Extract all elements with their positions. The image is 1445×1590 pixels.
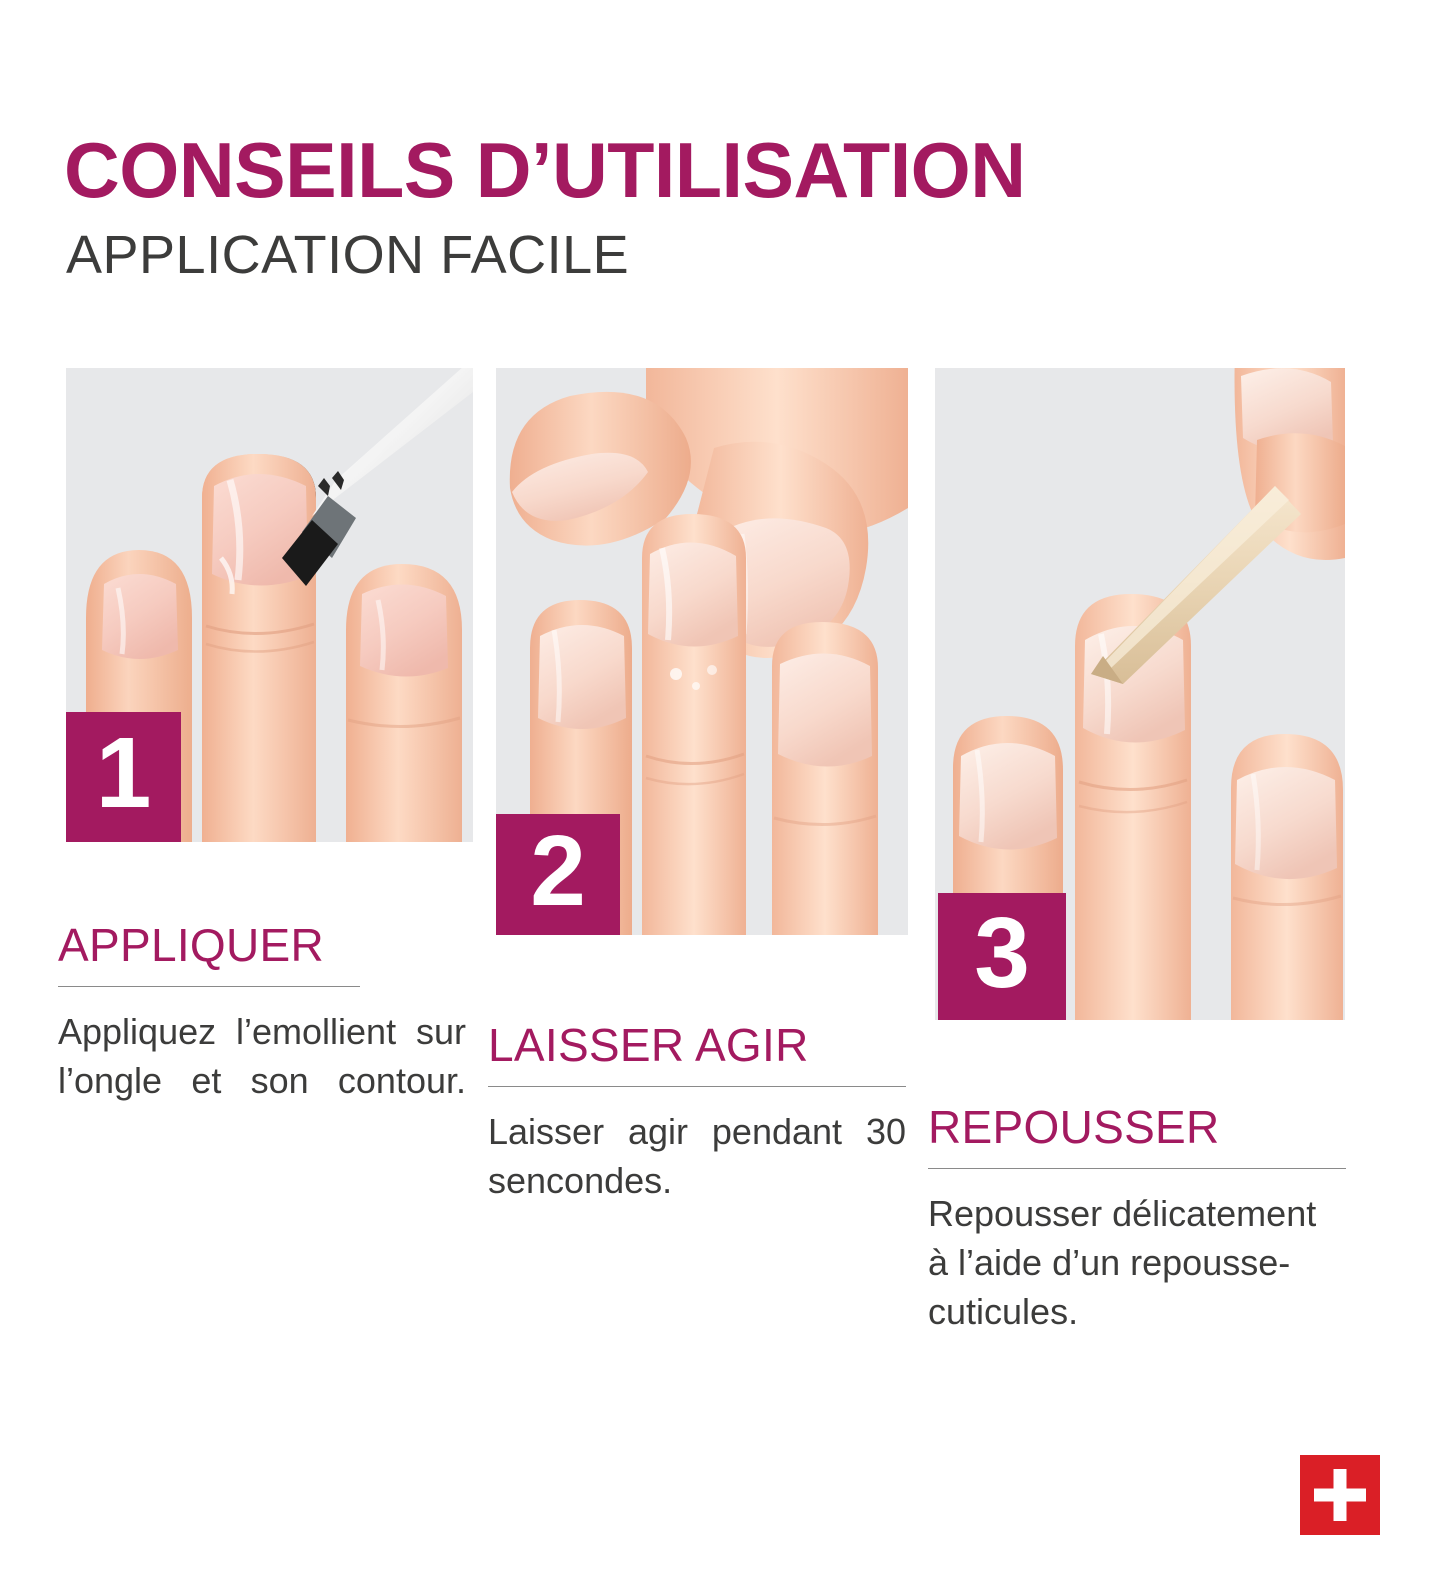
step-divider-2 (488, 1086, 906, 1087)
step-title-2: LAISSER AGIR (488, 1018, 906, 1072)
step-number-1: 1 (96, 723, 152, 823)
step-title-3: REPOUSSER (928, 1100, 1346, 1154)
step-text-block-1: APPLIQUER Appliquez l’emollient sur l’on… (58, 918, 466, 1154)
step-number-badge-3: 3 (938, 893, 1066, 1020)
page-subtitle: APPLICATION FACILE (66, 226, 629, 284)
step-number-2: 2 (530, 821, 586, 921)
swiss-cross-icon (1300, 1455, 1380, 1535)
page-title: CONSEILS D’UTILISATION (64, 128, 1026, 212)
step-text-block-3: REPOUSSER Repousser délicatement à l’aid… (928, 1100, 1346, 1336)
step-divider-3 (928, 1168, 1346, 1169)
step-number-badge-2: 2 (496, 814, 620, 935)
step-body-2: Laisser agir pendant 30 sencondes. (488, 1107, 906, 1254)
infographic-page: CONSEILS D’UTILISATION APPLICATION FACIL… (0, 0, 1445, 1590)
step-divider-1 (58, 986, 360, 987)
step-title-1: APPLIQUER (58, 918, 466, 972)
swiss-flag-icon (1300, 1455, 1380, 1535)
step-number-badge-1: 1 (66, 712, 181, 842)
step-number-3: 3 (974, 903, 1030, 1003)
step-body-1: Appliquez l’emollient sur l’ongle et son… (58, 1007, 466, 1154)
step-body-3: Repousser délicatement à l’aide d’un rep… (928, 1189, 1346, 1336)
step-text-block-2: LAISSER AGIR Laisser agir pendant 30 sen… (488, 1018, 906, 1254)
